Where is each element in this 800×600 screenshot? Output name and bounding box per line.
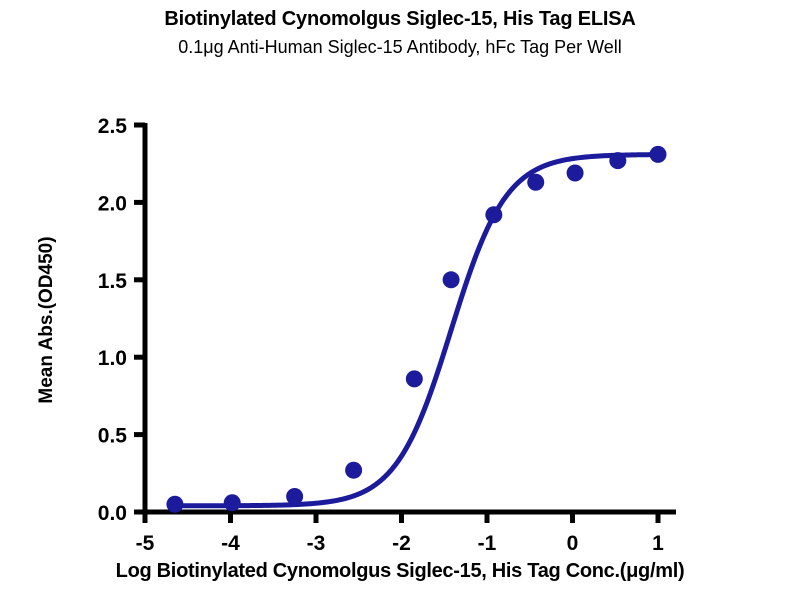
data-point (650, 146, 667, 163)
data-point (286, 488, 303, 505)
elisa-chart-figure: Biotinylated Cynomolgus Siglec-15, His T… (0, 0, 800, 600)
y-tick-labels: 0.00.51.01.52.02.5 (98, 115, 128, 525)
y-tick-label: 1.5 (98, 270, 128, 293)
y-tick-label: 1.0 (98, 347, 127, 370)
y-tick-label: 2.0 (98, 192, 127, 215)
y-tick-label: 0.0 (98, 502, 127, 525)
data-point (406, 370, 423, 387)
x-tick-label: -4 (221, 532, 240, 555)
x-tick-label: -1 (478, 532, 497, 555)
x-axis-title: Log Biotinylated Cynomolgus Siglec-15, H… (0, 560, 800, 583)
data-point (567, 164, 584, 181)
x-tick-label: -5 (136, 532, 155, 555)
x-tick-label: 0 (567, 532, 579, 555)
x-tick-labels: -5-4-3-2-101 (136, 532, 665, 555)
data-point-group (166, 146, 666, 513)
fit-curve (175, 155, 658, 506)
data-point (345, 462, 362, 479)
data-point (485, 206, 502, 223)
x-tick-label: -3 (307, 532, 326, 555)
x-tick-label: 1 (652, 532, 664, 555)
data-point (527, 174, 544, 191)
y-tick-label: 2.5 (98, 115, 128, 138)
data-point (609, 152, 626, 169)
plot-area: 0.00.51.01.52.02.5 -5-4-3-2-101 (0, 0, 800, 600)
data-point (443, 271, 460, 288)
x-tick-label: -2 (392, 532, 411, 555)
data-point (224, 494, 241, 511)
y-tick-label: 0.5 (98, 425, 128, 448)
data-point (166, 496, 183, 513)
